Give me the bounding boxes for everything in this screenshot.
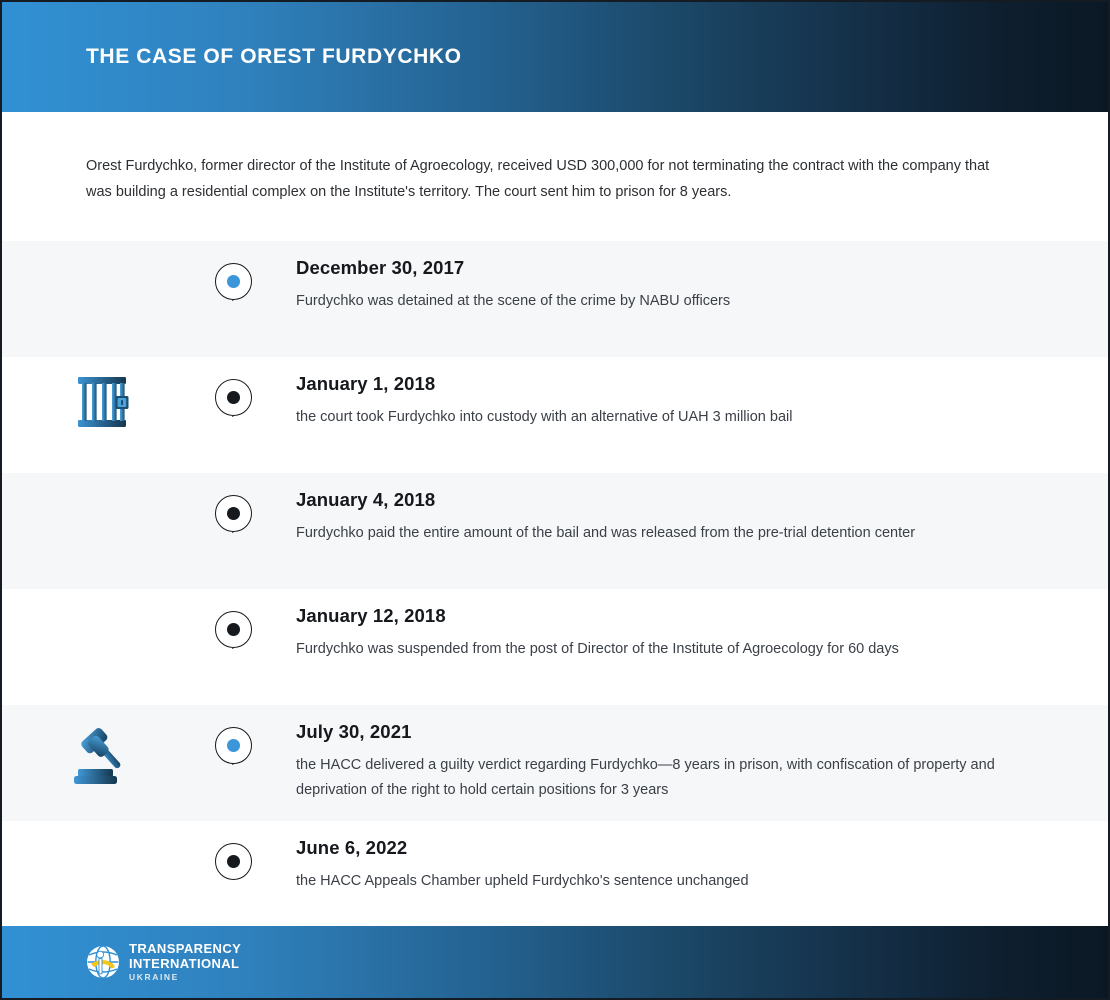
event-icon-cell [2,821,202,835]
timeline-connector-line [232,416,233,417]
event-description: the HACC delivered a guilty verdict rega… [296,753,1008,803]
event-description: Furdychko was detained at the scene of t… [296,289,1008,314]
event-date: January 1, 2018 [296,373,1008,395]
timeline-event-row: December 30, 2017Furdychko was detained … [2,241,1108,357]
event-date: July 30, 2021 [296,721,1008,743]
gavel-icon [67,719,137,789]
timeline-marker-dot[interactable] [215,495,252,532]
logo-line-international: INTERNATIONAL [129,957,241,970]
event-icon-cell [2,357,202,433]
marker-inner-dot [227,391,240,404]
page-header: THE CASE OF OREST FURDYCHKO [2,2,1108,112]
infographic-page: THE CASE OF OREST FURDYCHKO Orest Furdyc… [0,0,1110,1000]
intro-paragraph: Orest Furdychko, former director of the … [86,153,1018,205]
event-content-cell: January 1, 2018the court took Furdychko … [264,357,1108,448]
event-description: Furdychko paid the entire amount of the … [296,521,1008,546]
timeline-axis-cell [202,589,264,648]
event-icon-cell [2,473,202,487]
timeline-axis-cell [202,473,264,532]
timeline-event-row: June 6, 2022the HACC Appeals Chamber uph… [2,821,1108,937]
logo-line-transparency: TRANSPARENCY [129,942,241,955]
timeline-connector-line [232,532,233,533]
event-icon-cell [2,705,202,789]
event-content-cell: January 4, 2018Furdychko paid the entire… [264,473,1108,564]
event-date: January 12, 2018 [296,605,1008,627]
timeline: December 30, 2017Furdychko was detained … [2,241,1108,937]
timeline-axis-cell [202,357,264,416]
event-description: the court took Furdychko into custody wi… [296,405,1008,430]
event-date: December 30, 2017 [296,257,1008,279]
event-content-cell: July 30, 2021the HACC delivered a guilty… [264,705,1108,821]
event-date: June 6, 2022 [296,837,1008,859]
marker-inner-dot [227,739,240,752]
marker-inner-dot [227,507,240,520]
prison-bars-icon [71,371,133,433]
logo-line-ukraine: UKRAINE [129,973,241,982]
timeline-marker-dot[interactable] [215,379,252,416]
event-description: Furdychko was suspended from the post of… [296,637,1008,662]
logo-wordmark: TRANSPARENCY INTERNATIONAL UKRAINE [129,942,241,982]
transparency-international-ukraine-logo: TRANSPARENCY INTERNATIONAL UKRAINE [86,942,241,982]
timeline-event-row: January 4, 2018Furdychko paid the entire… [2,473,1108,589]
timeline-marker-dot[interactable] [215,263,252,300]
timeline-connector-line [232,648,233,649]
timeline-connector-line [232,764,233,765]
timeline-marker-dot[interactable] [215,727,252,764]
marker-inner-dot [227,623,240,636]
event-icon-cell [2,241,202,255]
ti-emblem-icon [86,945,120,979]
timeline-event-row: July 30, 2021the HACC delivered a guilty… [2,705,1108,821]
intro-section: Orest Furdychko, former director of the … [2,112,1108,241]
event-description: the HACC Appeals Chamber upheld Furdychk… [296,869,1008,894]
event-icon-cell [2,589,202,603]
event-date: January 4, 2018 [296,489,1008,511]
timeline-axis-cell [202,821,264,880]
marker-inner-dot [227,275,240,288]
timeline-event-row: January 12, 2018Furdychko was suspended … [2,589,1108,705]
page-footer: TRANSPARENCY INTERNATIONAL UKRAINE [2,926,1108,998]
page-title: THE CASE OF OREST FURDYCHKO [86,45,462,69]
timeline-axis-cell [202,241,264,300]
event-content-cell: December 30, 2017Furdychko was detained … [264,241,1108,332]
timeline-connector-line [232,300,233,301]
timeline-marker-dot[interactable] [215,611,252,648]
timeline-marker-dot[interactable] [215,843,252,880]
timeline-axis-cell [202,705,264,764]
event-content-cell: January 12, 2018Furdychko was suspended … [264,589,1108,680]
event-content-cell: June 6, 2022the HACC Appeals Chamber uph… [264,821,1108,912]
timeline-event-row: January 1, 2018the court took Furdychko … [2,357,1108,473]
marker-inner-dot [227,855,240,868]
